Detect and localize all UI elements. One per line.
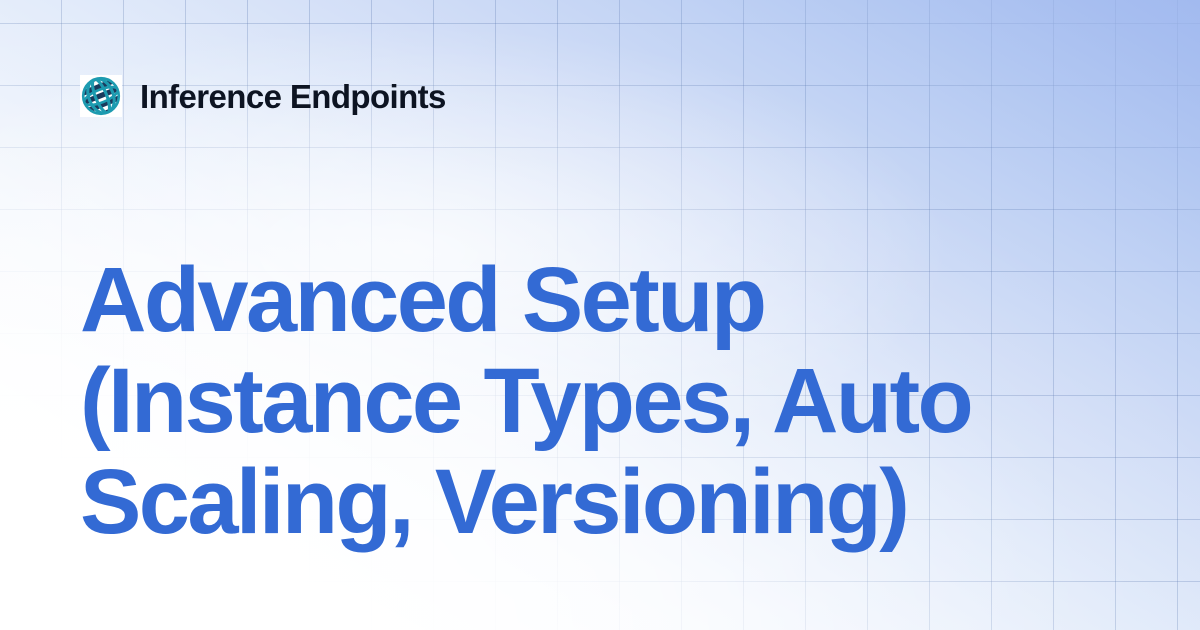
brand-header: Inference Endpoints	[80, 72, 1120, 120]
page-title: Advanced Setup (Instance Types, Auto Sca…	[80, 250, 1090, 553]
page-title-line-3: Scaling, Versioning)	[80, 452, 1090, 553]
og-card: Inference Endpoints Advanced Setup (Inst…	[0, 0, 1200, 630]
striped-globe-icon	[80, 75, 122, 117]
card-content: Inference Endpoints Advanced Setup (Inst…	[0, 0, 1200, 630]
brand-name-label: Inference Endpoints	[140, 80, 446, 113]
page-title-line-1: Advanced Setup	[80, 250, 1090, 351]
page-title-line-2: (Instance Types, Auto	[80, 351, 1090, 452]
